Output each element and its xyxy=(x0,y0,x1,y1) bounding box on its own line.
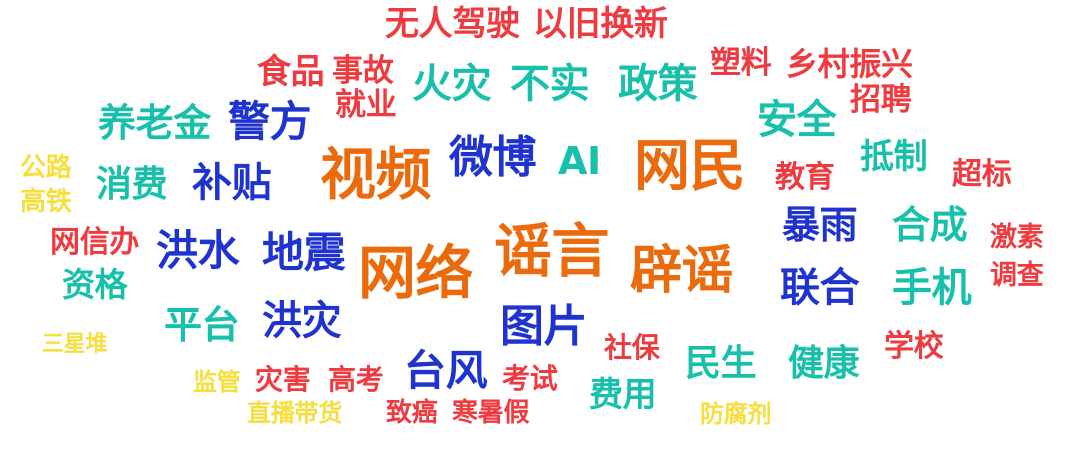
cloud-word[interactable]: 联合 xyxy=(780,268,859,308)
cloud-word[interactable]: 洪水 xyxy=(156,230,239,272)
cloud-word[interactable]: 以旧换新 xyxy=(533,7,668,41)
cloud-word[interactable]: 费用 xyxy=(589,378,656,412)
cloud-word[interactable]: 灾害 xyxy=(255,366,310,394)
cloud-word[interactable]: 教育 xyxy=(775,163,834,193)
cloud-word[interactable]: 高铁 xyxy=(20,189,71,215)
cloud-word[interactable]: 超标 xyxy=(952,160,1011,190)
cloud-word[interactable]: 就业 xyxy=(335,90,396,121)
cloud-word[interactable]: 地震 xyxy=(262,232,345,274)
cloud-word[interactable]: 公路 xyxy=(20,155,71,181)
cloud-word[interactable]: 图片 xyxy=(500,305,587,349)
cloud-word[interactable]: 火灾 xyxy=(412,64,491,104)
cloud-word[interactable]: 三星堆 xyxy=(42,334,107,356)
cloud-word[interactable]: 调查 xyxy=(990,262,1043,289)
cloud-word[interactable]: 事故 xyxy=(332,56,393,87)
cloud-word[interactable]: 暴雨 xyxy=(782,206,857,244)
cloud-word[interactable]: 寒暑假 xyxy=(452,400,529,426)
cloud-word[interactable]: 网民 xyxy=(634,139,745,195)
cloud-word[interactable]: 视频 xyxy=(320,148,431,204)
cloud-word[interactable]: 直播带货 xyxy=(247,401,342,425)
cloud-word[interactable]: 监管 xyxy=(193,370,241,394)
cloud-word[interactable]: 政策 xyxy=(618,64,697,104)
cloud-word[interactable]: 健康 xyxy=(788,346,859,382)
cloud-word[interactable]: 网络 xyxy=(358,244,473,302)
cloud-word[interactable]: 谣言 xyxy=(494,222,609,280)
cloud-word[interactable]: 致癌 xyxy=(386,400,437,426)
cloud-word[interactable]: AI xyxy=(558,142,601,180)
cloud-word[interactable]: 无人驾驶 xyxy=(385,7,520,41)
cloud-word[interactable]: 平台 xyxy=(164,306,239,344)
cloud-word[interactable]: 高考 xyxy=(328,366,383,394)
cloud-word[interactable]: 抵制 xyxy=(860,140,927,174)
cloud-word[interactable]: 社保 xyxy=(604,334,659,362)
cloud-word[interactable]: 养老金 xyxy=(98,104,211,142)
cloud-word[interactable]: 民生 xyxy=(685,346,756,382)
cloud-word[interactable]: 补贴 xyxy=(192,163,271,203)
cloud-word[interactable]: 学校 xyxy=(884,332,943,362)
cloud-word[interactable]: 防腐剂 xyxy=(700,402,771,426)
cloud-word[interactable]: 警方 xyxy=(228,101,311,143)
cloud-word[interactable]: 乡村振兴 xyxy=(786,48,913,80)
cloud-word[interactable]: 手机 xyxy=(892,268,971,308)
cloud-word[interactable]: 辟谣 xyxy=(630,245,733,297)
cloud-word[interactable]: 消费 xyxy=(96,167,167,203)
cloud-word[interactable]: 食品 xyxy=(257,55,324,89)
cloud-word[interactable]: 微博 xyxy=(449,136,536,180)
cloud-word[interactable]: 合成 xyxy=(892,206,967,244)
cloud-word[interactable]: 塑料 xyxy=(710,48,771,79)
cloud-word[interactable]: 考试 xyxy=(502,365,557,393)
cloud-word[interactable]: 招聘 xyxy=(850,85,911,116)
word-cloud-canvas: 无人驾驶以旧换新食品事故火灾不实政策塑料乡村振兴招聘养老金警方就业安全公路高铁消… xyxy=(0,0,1066,465)
cloud-word[interactable]: 激素 xyxy=(990,224,1043,251)
cloud-word[interactable]: 资格 xyxy=(62,268,127,301)
cloud-word[interactable]: 网信办 xyxy=(50,228,139,258)
cloud-word[interactable]: 不实 xyxy=(510,64,589,104)
cloud-word[interactable]: 洪灾 xyxy=(262,301,341,341)
cloud-word[interactable]: 安全 xyxy=(757,100,836,140)
cloud-word[interactable]: 台风 xyxy=(404,350,487,392)
